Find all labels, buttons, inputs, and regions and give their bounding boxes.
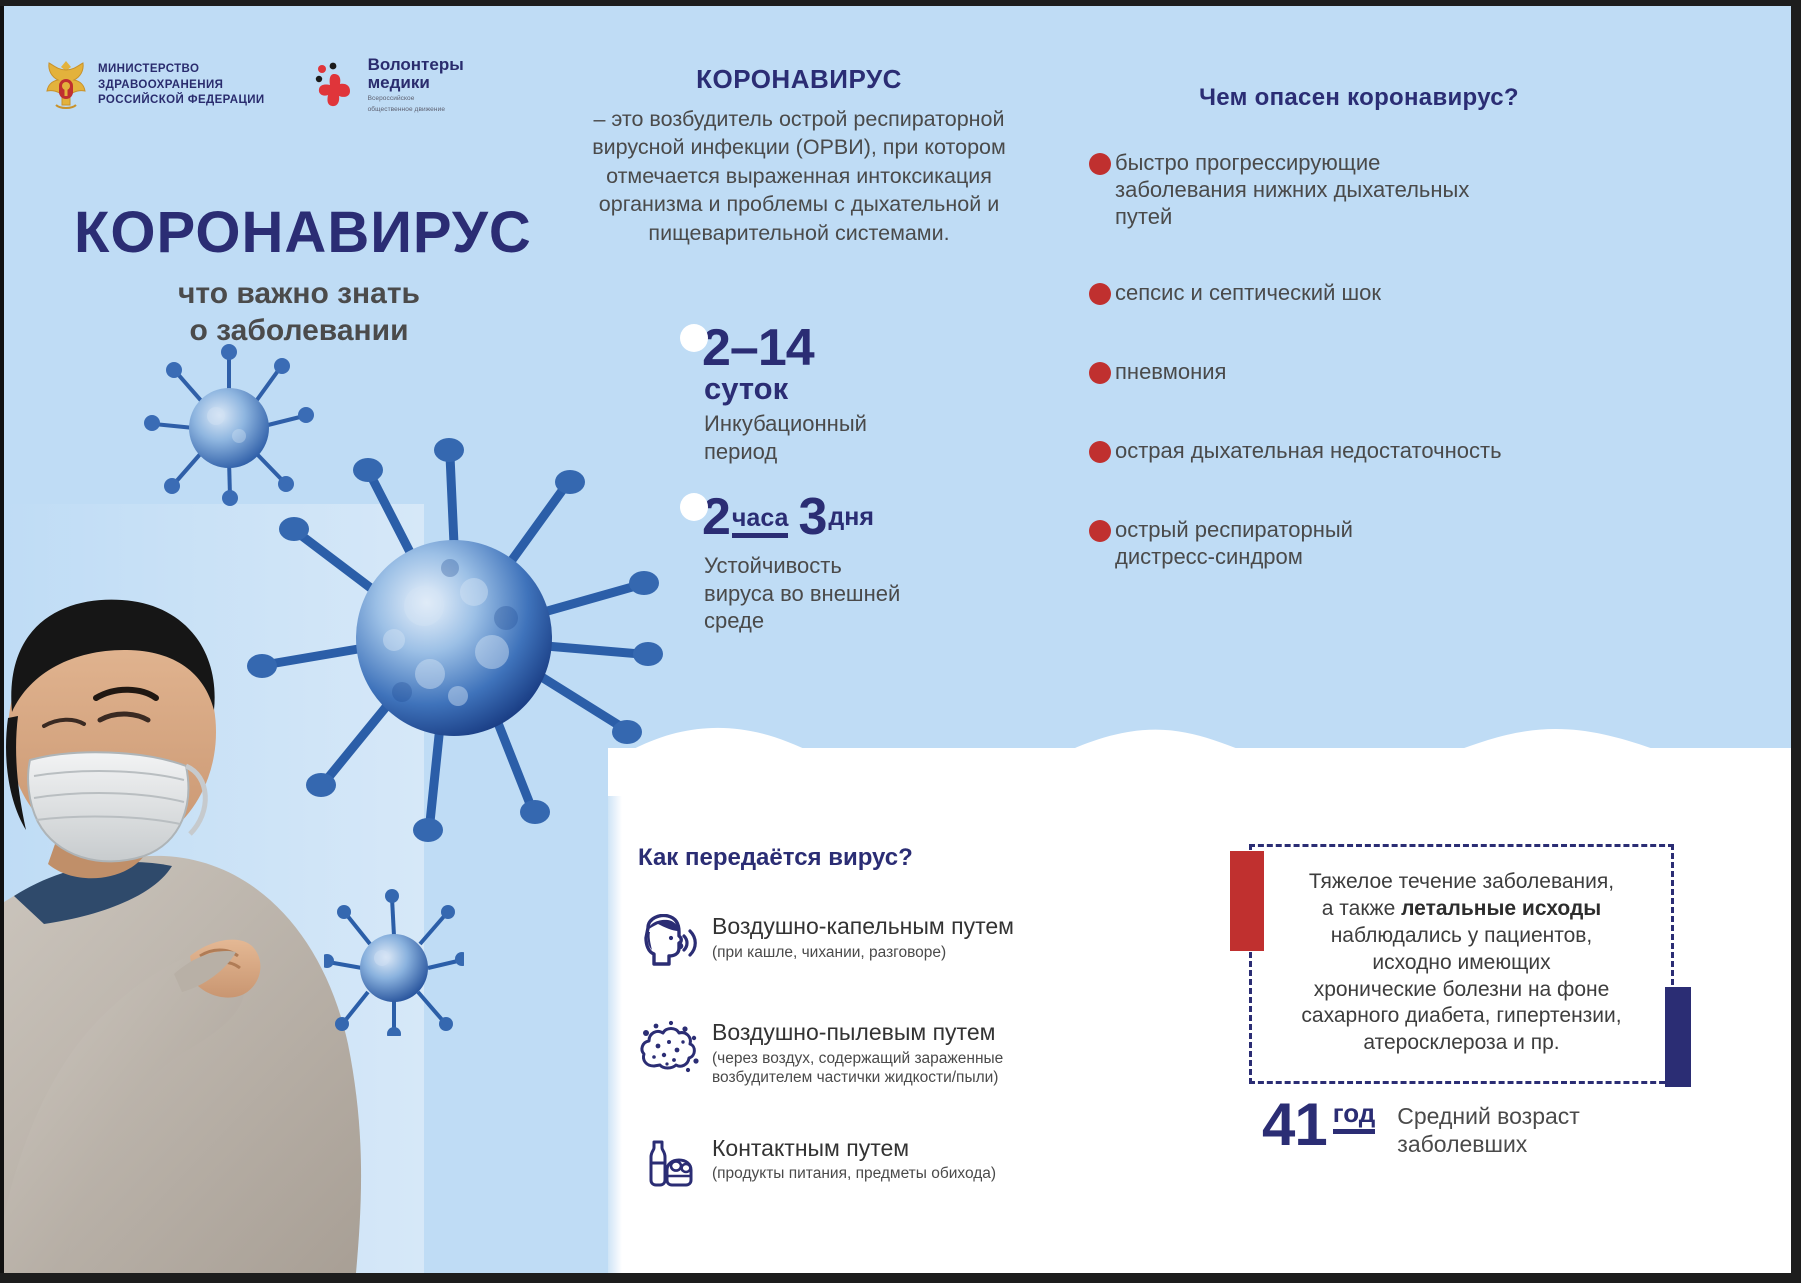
stat-survival-caption-2: вируса во внешней — [704, 580, 1010, 608]
warning-line-7: атеросклероза и пр. — [1278, 1030, 1645, 1057]
ministry-line-3: РОССИЙСКОЙ ФЕДЕРАЦИИ — [98, 93, 265, 108]
stat-incubation-period: 2–14 суток Инкубационный период — [680, 324, 1000, 466]
volunteer-line-2: медики — [368, 74, 464, 92]
danger-list-item: острая дыхательная недостаточность — [1089, 438, 1629, 465]
transmission-list-item: Воздушно-пылевым путем (через воздух, со… — [638, 1020, 1068, 1088]
transmission-item-note: (при кашле, чихании, разговоре) — [712, 943, 1014, 962]
red-bullet-icon — [1089, 362, 1111, 384]
stat-survival-unit-a: часа — [732, 506, 789, 531]
warning-line-5: хронические болезни на фоне — [1278, 977, 1645, 1004]
definition-heading: КОРОНАВИРУС — [564, 64, 1034, 95]
transmission-item-copy: Контактным путем (продукты питания, пред… — [712, 1136, 996, 1184]
danger-list-item: пневмония — [1089, 359, 1629, 386]
danger-list-item: быстро прогрессирующие заболевания нижни… — [1089, 150, 1629, 230]
wave-divider — [608, 706, 1791, 796]
poster-canvas: МИНИСТЕРСТВО ЗДРАВООХРАНЕНИЯ РОССИЙСКОЙ … — [4, 6, 1791, 1273]
danger-list-item: острый респираторный дистресс-синдром — [1089, 517, 1629, 571]
virus-particle-small-bottom — [324, 886, 464, 1036]
danger-item-text: пневмония — [1115, 359, 1226, 386]
dust-cloud-icon — [638, 1020, 700, 1076]
warning-text: Тяжелое течение заболевания, а также лет… — [1278, 869, 1645, 1057]
virus-particle-large — [244, 426, 664, 856]
warning-line-2-bold: летальные исходы — [1401, 897, 1601, 920]
stat-incubation-caption-2: период — [704, 438, 1000, 466]
volunteer-line-1: Волонтеры — [368, 56, 464, 74]
transmission-list-item: Контактным путем (продукты питания, пред… — [638, 1136, 1068, 1192]
average-age-caption-1: Средний возраст — [1397, 1102, 1580, 1130]
warning-line-1: Тяжелое течение заболевания, — [1278, 869, 1645, 896]
transmission-list-item: Воздушно-капельным путем (при кашле, чих… — [638, 914, 1068, 970]
red-bullet-icon — [1089, 153, 1111, 175]
red-cross-plus-icon — [313, 62, 359, 108]
stat-survival-caption-1: Устойчивость — [704, 552, 1010, 580]
transmission-list: Воздушно-капельным путем (при кашле, чих… — [638, 914, 1068, 1192]
volunteer-logo-text: Волонтеры медики Всероссийское обществен… — [368, 56, 464, 114]
transmission-item-title: Контактным путем — [712, 1136, 996, 1162]
stat-incubation-value-row: 2–14 — [702, 324, 1000, 373]
definition-body: – это возбудитель острой респираторной в… — [564, 105, 1034, 247]
volunteer-sub-2: общественное движение — [368, 106, 464, 114]
transmission-section: Как передаётся вирус? Воздушно-капельным… — [638, 844, 1068, 1192]
transmission-item-title: Воздушно-капельным путем — [712, 914, 1014, 940]
head-speaking-icon — [638, 914, 700, 970]
white-dot-icon — [680, 493, 708, 521]
transmission-item-note-line-1: (через воздух, содержащий зараженные — [712, 1049, 1003, 1068]
average-age-caption: Средний возраст заболевших — [1397, 1102, 1580, 1158]
white-dot-icon — [680, 324, 708, 352]
ministry-of-health-logo: МИНИСТЕРСТВО ЗДРАВООХРАНЕНИЯ РОССИЙСКОЙ … — [44, 59, 265, 111]
transmission-item-note: (продукты питания, предметы обихода) — [712, 1164, 996, 1183]
red-accent-bar — [1230, 851, 1264, 951]
ministry-logo-text: МИНИСТЕРСТВО ЗДРАВООХРАНЕНИЯ РОССИЙСКОЙ … — [98, 62, 265, 108]
stat-survival-unit-a-wrap: часа — [732, 506, 789, 538]
warning-line-6: сахарного диабета, гипертензии, — [1278, 1003, 1645, 1030]
stat-survival-unit-b: дня — [828, 503, 874, 532]
warning-line-4: исходно имеющих — [1278, 950, 1645, 977]
severe-outcome-warning: Тяжелое течение заболевания, а также лет… — [1249, 844, 1674, 1084]
average-age-number: 41 — [1262, 1098, 1327, 1152]
danger-item-text: острая дыхательная недостаточность — [1115, 438, 1502, 465]
stat-survival-caption: Устойчивость вируса во внешней среде — [704, 552, 1010, 635]
poster-subtitle-line-1: что важно знать — [74, 276, 524, 313]
danger-item-text: сепсис и септический шок — [1115, 280, 1381, 307]
underline-bar-icon — [1333, 1129, 1376, 1134]
stat-survival-caption-3: среде — [704, 607, 1010, 635]
stat-virus-survival: 2 часа 3 дня Устойчивость вируса во внеш… — [680, 493, 1010, 635]
russian-coat-of-arms-icon — [44, 59, 88, 111]
infographic-poster: МИНИСТЕРСТВО ЗДРАВООХРАНЕНИЯ РОССИЙСКОЙ … — [0, 0, 1801, 1283]
warning-line-2: а также летальные исходы — [1278, 896, 1645, 923]
average-age-unit-wrap: год — [1333, 1100, 1376, 1134]
ministry-line-2: ЗДРАВООХРАНЕНИЯ — [98, 78, 265, 93]
transmission-item-note-line-2: возбудителем частички жидкости/пыли) — [712, 1068, 1003, 1087]
volunteer-medics-logo: Волонтеры медики Всероссийское обществен… — [313, 56, 464, 114]
average-age-caption-2: заболевших — [1397, 1130, 1580, 1158]
frame-edge-bottom — [0, 1273, 1801, 1283]
volunteer-sub-1: Всероссийское — [368, 95, 464, 103]
stat-incubation-value: 2–14 — [702, 324, 814, 373]
danger-list-item: сепсис и септический шок — [1089, 280, 1629, 307]
transmission-item-title: Воздушно-пылевым путем — [712, 1020, 1003, 1046]
danger-item-text: быстро прогрессирующие заболевания нижни… — [1115, 150, 1515, 230]
poster-subtitle: что важно знать о заболевании — [74, 276, 524, 349]
stat-incubation-caption: Инкубационный период — [704, 410, 1000, 465]
definition-block: КОРОНАВИРУС – это возбудитель острой рес… — [564, 64, 1034, 247]
dangers-section: Чем опасен коронавирус? быстро прогресси… — [1089, 84, 1629, 607]
red-bullet-icon — [1089, 283, 1111, 305]
dangers-heading: Чем опасен коронавирус? — [1089, 84, 1629, 112]
poster-title: КОРОНАВИРУС — [74, 204, 524, 262]
stat-incubation-unit: суток — [704, 373, 1000, 404]
red-bullet-icon — [1089, 520, 1111, 542]
warning-dashed-box: Тяжелое течение заболевания, а также лет… — [1249, 844, 1674, 1084]
poster-subtitle-line-2: о заболевании — [74, 313, 524, 350]
stat-survival-value-row: 2 часа 3 дня — [702, 493, 1010, 546]
warning-line-2-plain: а также — [1322, 897, 1401, 920]
warning-line-3: наблюдались у пациентов, — [1278, 923, 1645, 950]
danger-item-text: острый респираторный дистресс-синдром — [1115, 517, 1445, 571]
red-bullet-icon — [1089, 441, 1111, 463]
average-age-unit: год — [1333, 1100, 1376, 1126]
transmission-item-copy: Воздушно-капельным путем (при кашле, чих… — [712, 914, 1014, 962]
frame-edge-right — [1791, 0, 1801, 1283]
stat-survival-value-b: 3 — [798, 493, 826, 542]
logo-bar: МИНИСТЕРСТВО ЗДРАВООХРАНЕНИЯ РОССИЙСКОЙ … — [44, 56, 464, 114]
average-age-stat: 41 год Средний возраст заболевших — [1262, 1098, 1580, 1158]
white-panel-left-fade — [608, 796, 622, 1273]
dangers-list: быстро прогрессирующие заболевания нижни… — [1089, 150, 1629, 571]
poster-title-block: КОРОНАВИРУС что важно знать о заболевани… — [74, 204, 524, 349]
stat-incubation-caption-1: Инкубационный — [704, 410, 1000, 438]
transmission-item-copy: Воздушно-пылевым путем (через воздух, со… — [712, 1020, 1003, 1088]
fraction-bar-icon — [732, 533, 789, 538]
groceries-icon — [638, 1136, 700, 1192]
ministry-line-1: МИНИСТЕРСТВО — [98, 62, 265, 77]
transmission-heading: Как передаётся вирус? — [638, 844, 1068, 872]
navy-accent-bar — [1665, 987, 1691, 1087]
